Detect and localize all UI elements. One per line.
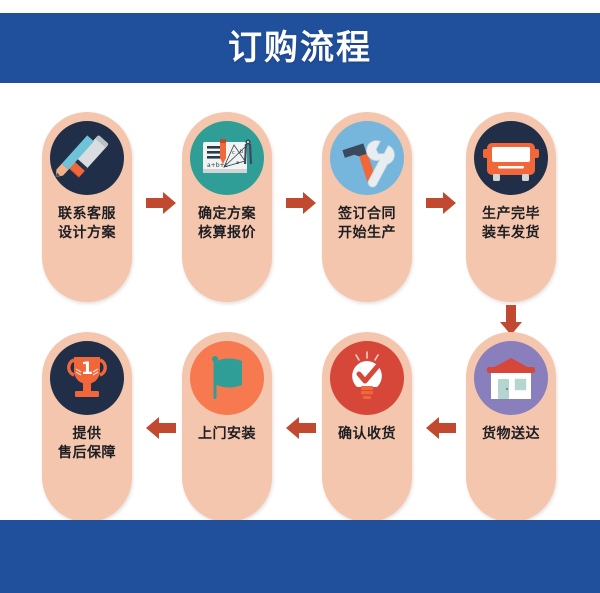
label-line: 开始生产 [338, 223, 396, 242]
trophy-badge-number: 1 [81, 359, 93, 379]
arrow-right-icon-2 [286, 190, 316, 216]
flow-step-label-7: 上门安装 [198, 424, 256, 443]
flow-step-card-1[interactable]: 联系客服 设计方案 [42, 112, 132, 302]
label-line: 确定方案 [198, 204, 256, 223]
infographic-page: 订购流程 联系客服 设计方案 [0, 0, 600, 593]
svg-text:b: b [240, 149, 243, 155]
arrow-right-icon-3 [426, 190, 456, 216]
label-line: 上门安装 [198, 424, 256, 443]
page-title: 订购流程 [228, 31, 372, 65]
flow-step-card-8[interactable]: 1 提供 售后保障 [42, 332, 132, 522]
flow-step-label-8: 提供 售后保障 [58, 424, 116, 462]
label-line: 确认收货 [338, 424, 396, 443]
arrow-left-icon-1 [146, 415, 176, 441]
flag-icon [190, 341, 264, 415]
header-banner: 订购流程 [0, 13, 600, 83]
truck-icon [474, 121, 548, 195]
label-line: 核算报价 [198, 223, 256, 242]
flow-step-label-5: 货物送达 [482, 424, 540, 443]
label-line: 装车发货 [482, 223, 540, 242]
flow-step-card-7[interactable]: 上门安装 [182, 332, 272, 522]
flow-step-card-6[interactable]: 确认收货 [322, 332, 412, 522]
arrow-right-icon-1 [146, 190, 176, 216]
flow-step-label-4: 生产完毕 装车发货 [482, 204, 540, 242]
label-line: 设计方案 [58, 223, 116, 242]
house-icon [474, 341, 548, 415]
footer-banner [0, 520, 600, 593]
flow-step-label-6: 确认收货 [338, 424, 396, 443]
label-line: 生产完毕 [482, 204, 540, 223]
arrow-left-icon-3 [426, 415, 456, 441]
trophy-icon: 1 [50, 341, 124, 415]
pencil-icon [50, 121, 124, 195]
flow-step-card-3[interactable]: 签订合同 开始生产 [322, 112, 412, 302]
flow-step-card-4[interactable]: 生产完毕 装车发货 [466, 112, 556, 302]
flow-step-label-2: 确定方案 核算报价 [198, 204, 256, 242]
label-line: 售后保障 [58, 443, 116, 462]
hammer-wrench-icon [330, 121, 404, 195]
label-line: 联系客服 [58, 204, 116, 223]
flow-step-card-5[interactable]: 货物送达 [466, 332, 556, 522]
flow-step-card-2[interactable]: a+b+c c b a 确定方案 核算报价 [182, 112, 272, 302]
label-line: 提供 [58, 424, 116, 443]
blueprint-icon: a+b+c c b a [190, 121, 264, 195]
label-line: 货物送达 [482, 424, 540, 443]
flow-step-label-1: 联系客服 设计方案 [58, 204, 116, 242]
flow-step-label-3: 签订合同 开始生产 [338, 204, 396, 242]
arrow-down-icon [498, 305, 524, 335]
arrow-left-icon-2 [286, 415, 316, 441]
svg-text:c: c [232, 150, 235, 156]
lightbulb-check-icon [330, 341, 404, 415]
svg-text:a: a [236, 160, 239, 166]
label-line: 签订合同 [338, 204, 396, 223]
